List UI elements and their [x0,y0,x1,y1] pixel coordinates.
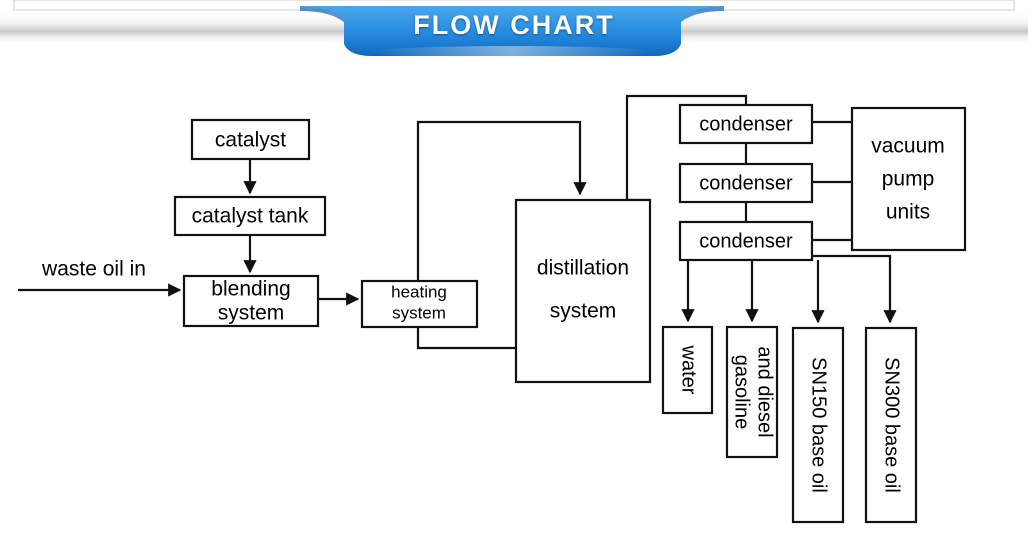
node-sn300-base-oil-label: SN300 base oil [881,357,903,493]
node-vacuum-pump-units-label-line3: units [886,201,930,224]
node-condenser-3[interactable]: condenser [680,222,812,260]
banner-graphic [0,0,1028,60]
node-gasoline-and-diesel[interactable]: gasoline and diesel [727,327,777,457]
node-distillation-system-label-line2: system [550,300,617,323]
node-blending-system-label-line1: blending [211,278,290,301]
node-catalyst-tank-label: catalyst tank [192,205,309,228]
edge-condenser-3-to-sn300 [812,256,890,322]
node-catalyst[interactable]: catalyst [192,120,309,159]
node-vacuum-pump-units-label-line1: vacuum [871,135,945,158]
page-banner: FLOW CHART [0,0,1028,60]
node-condenser-3-label: condenser [699,230,793,252]
node-heating-system-label-line2: system [392,303,446,322]
node-condenser-2-label: condenser [699,172,793,194]
node-catalyst-tank[interactable]: catalyst tank [175,197,325,235]
node-catalyst-label: catalyst [215,129,286,152]
node-blending-system[interactable]: blending system [184,276,318,326]
node-vacuum-pump-units-label-line2: pump [882,168,935,191]
node-sn150-base-oil[interactable]: SN150 base oil [793,328,843,522]
flow-diagram-svg: catalyst catalyst tank blending system h… [0,58,1028,535]
node-distillation-system[interactable]: distillation system [516,200,650,382]
node-water[interactable]: water [663,327,712,413]
node-vacuum-pump-units[interactable]: vacuum pump units [852,108,965,250]
node-condenser-2[interactable]: condenser [680,164,812,202]
flow-diagram: catalyst catalyst tank blending system h… [0,58,1028,535]
node-condenser-1-label: condenser [699,113,793,135]
node-sn150-base-oil-label: SN150 base oil [808,357,830,493]
node-distillation-system-label-line1: distillation [537,257,629,280]
node-heating-system-label-line1: heating [391,282,447,301]
waste-oil-in-label: waste oil in [41,258,146,281]
node-gasoline-and-diesel-label-line1: gasoline [731,355,753,430]
node-heating-system[interactable]: heating system [362,281,477,327]
node-water-label: water [678,345,700,395]
node-sn300-base-oil[interactable]: SN300 base oil [866,328,916,522]
node-condenser-1[interactable]: condenser [680,105,812,143]
node-blending-system-label-line2: system [218,302,285,325]
node-gasoline-and-diesel-label-line2: and diesel [754,346,776,437]
